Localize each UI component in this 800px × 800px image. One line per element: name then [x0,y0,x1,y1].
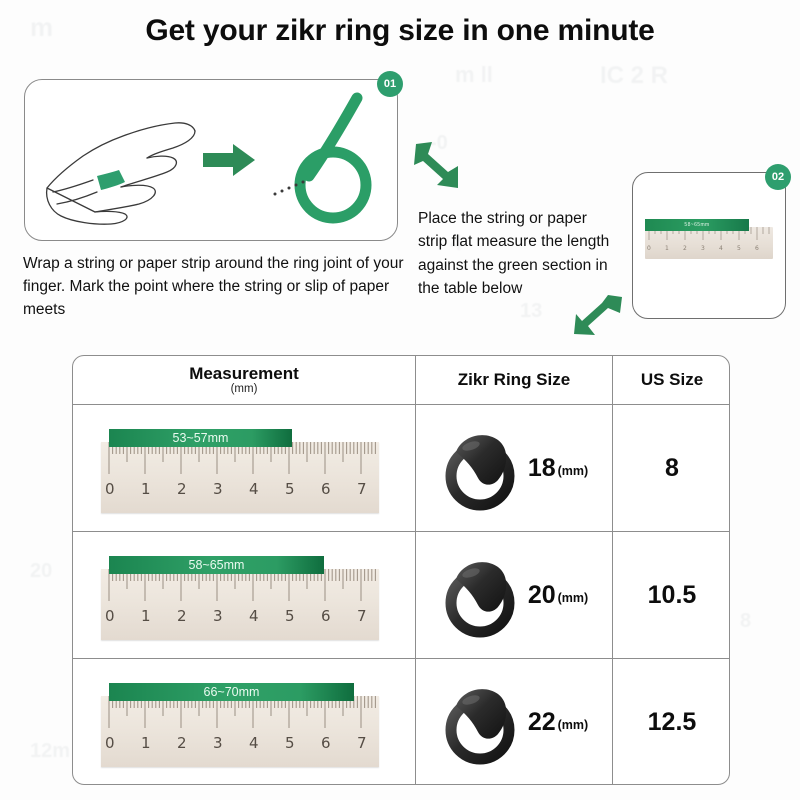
svg-text:2: 2 [177,607,187,625]
table-header: Measurement (mm) Zikr Ring Size US Size [73,356,730,405]
ruler-graphic: 66~70mm 01234567 [101,683,379,767]
us-size-cell: 12.5 [613,659,731,786]
coiled-string-illustration-icon [261,90,391,230]
measure-bar: 66~70mm [109,683,354,701]
svg-text:7: 7 [357,480,367,498]
svg-text:7: 7 [357,734,367,752]
svg-text:5: 5 [285,480,295,498]
step-2-illustration-panel: 012 345 6 58~65mm [632,172,786,319]
svg-text:0: 0 [105,480,115,498]
zikr-ring-icon [440,674,526,770]
table-header-row: Measurement (mm) Zikr Ring Size US Size [73,356,730,405]
us-size-cell: 10.5 [613,532,731,659]
svg-text:1: 1 [141,607,151,625]
table-row: 58~65mm 01234567 [73,532,730,659]
svg-text:2: 2 [177,480,187,498]
us-size-cell: 8 [613,405,731,532]
mini-ruler-graphic: 012 345 6 [645,227,773,259]
svg-text:4: 4 [249,734,259,752]
size-table-container: Measurement (mm) Zikr Ring Size US Size … [72,355,730,785]
svg-text:5: 5 [285,734,295,752]
header-measurement: Measurement (mm) [73,356,416,405]
svg-text:6: 6 [321,607,331,625]
svg-text:1: 1 [141,480,151,498]
svg-text:4: 4 [249,480,259,498]
step-2-caption: Place the string or paper strip flat mea… [418,207,618,300]
svg-text:2: 2 [683,245,687,252]
measurement-cell: 53~57mm 01234567 [73,405,416,532]
arrow-down-left-icon [572,293,626,339]
page-title: Get your zikr ring size in one minute [0,14,800,48]
ruler-ticks-icon: 01234567 [101,696,379,767]
measurement-cell: 66~70mm 01234567 [73,659,416,786]
zikr-ring-icon [440,547,526,643]
step-1-badge: 01 [377,71,403,97]
step-2-badge: 02 [765,164,791,190]
ring-size-unit: (mm) [558,718,589,732]
svg-text:7: 7 [357,607,367,625]
ring-size-unit: (mm) [558,464,589,478]
svg-text:0: 0 [105,607,115,625]
ruler-graphic: 53~57mm 01234567 [101,429,379,513]
svg-text:1: 1 [665,245,669,252]
arrow-down-right-icon [412,138,464,194]
mini-ruler-ticks-icon: 012 345 6 [645,227,773,259]
step-1-illustration-panel [24,79,398,241]
measure-bar: 58~65mm [109,556,324,574]
svg-text:1: 1 [141,734,151,752]
header-measurement-label: Measurement [189,364,299,383]
size-table: Measurement (mm) Zikr Ring Size US Size … [73,356,730,785]
svg-text:5: 5 [737,245,741,252]
header-us-size: US Size [613,356,731,405]
ring-size-value: 20 [528,581,556,610]
ring-size-value: 18 [528,454,556,483]
ruler-graphic: 58~65mm 01234567 [101,556,379,640]
ruler-ticks-icon: 01234567 [101,569,379,640]
svg-text:2: 2 [177,734,187,752]
measurement-cell: 58~65mm 01234567 [73,532,416,659]
measure-bar: 53~57mm [109,429,292,447]
zikr-ring-icon [440,420,526,516]
svg-text:6: 6 [321,480,331,498]
svg-text:0: 0 [105,734,115,752]
svg-text:3: 3 [213,607,223,625]
ring-size-cell: 18 (mm) [416,405,613,532]
svg-text:6: 6 [321,734,331,752]
svg-text:4: 4 [249,607,259,625]
size-guide-page: m m ll IC 2 R < 1 -0 4 13 73 20 8 12m Ge… [0,0,800,800]
table-row: 66~70mm 01234567 [73,659,730,786]
svg-text:4: 4 [719,245,723,252]
header-measurement-unit: (mm) [73,383,415,395]
svg-text:0: 0 [647,245,651,252]
header-zikr-ring-size: Zikr Ring Size [416,356,613,405]
svg-text:6: 6 [755,245,759,252]
step-1-caption: Wrap a string or paper strip around the … [23,253,415,322]
arrow-right-icon [201,142,257,178]
ruler-ticks-icon: 01234567 [101,442,379,513]
mini-measure-bar: 58~65mm [645,219,749,231]
svg-text:3: 3 [213,734,223,752]
svg-text:3: 3 [213,480,223,498]
ring-size-cell: 22 (mm) [416,659,613,786]
table-body: 53~57mm 01234567 [73,405,730,786]
svg-text:3: 3 [701,245,705,252]
ring-size-unit: (mm) [558,591,589,605]
svg-text:5: 5 [285,607,295,625]
ring-size-cell: 20 (mm) [416,532,613,659]
table-row: 53~57mm 01234567 [73,405,730,532]
ring-size-value: 22 [528,708,556,737]
